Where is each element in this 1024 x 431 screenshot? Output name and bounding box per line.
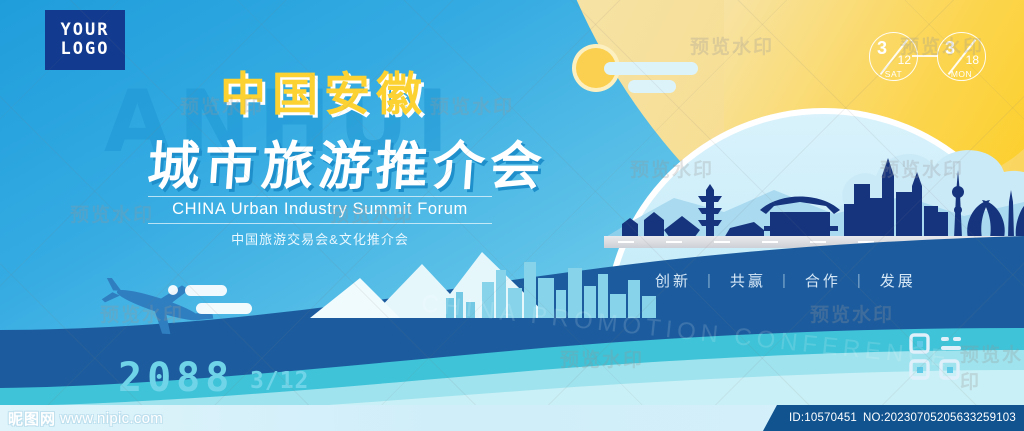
subtitle-cn: 中国旅游交易会&文化推介会	[148, 229, 492, 248]
poster-canvas: YOUR LOGO ANHUI 中国安徽 城市旅游推介会 CHINA Urban…	[0, 0, 1024, 431]
title-cn-top: 中国安徽	[220, 58, 428, 124]
asset-id-tag: ID:10570451 NO:20230705205633259103	[763, 405, 1024, 431]
date-weekday: SAT	[870, 69, 917, 79]
keyword-separator: |	[782, 272, 789, 289]
date-badge-end: 3 18 MON	[937, 32, 986, 81]
date-weekday: MON	[938, 69, 985, 79]
title-cn-main: 城市旅游推介会	[145, 124, 549, 199]
site-brand-url: www.nipic.com	[60, 410, 163, 427]
subtitle-en-frame: CHINA Urban Industry Summit Forum	[148, 196, 492, 224]
keyword-item: 发展	[880, 270, 916, 291]
keyword-item: 合作	[805, 270, 841, 291]
date-month: 3	[945, 38, 955, 59]
logo-placeholder[interactable]: YOUR LOGO	[45, 10, 125, 70]
date-badge-start: 3 12 SAT	[869, 32, 918, 81]
qr-code-icon[interactable]	[908, 332, 970, 382]
asset-no: NO:20230705205633259103	[863, 412, 1016, 424]
date-month: 3	[877, 38, 887, 59]
asset-id: ID:10570451	[789, 412, 857, 424]
event-year: 2088	[118, 355, 234, 401]
cloud-bar	[628, 80, 676, 93]
date-day: 18	[966, 53, 979, 67]
keyword-item: 共赢	[730, 270, 766, 291]
site-brand-cn: 昵图网	[8, 408, 56, 429]
site-brand: 昵图网 www.nipic.com	[8, 408, 163, 429]
keyword-separator: |	[857, 272, 864, 289]
keyword-item: 创新	[655, 270, 691, 291]
plane-cloud-bar	[185, 285, 227, 296]
plane-cloud-dot	[168, 285, 178, 295]
event-day: 3/12	[250, 368, 309, 394]
logo-line-1: YOUR	[61, 21, 110, 40]
plane-cloud-bar	[196, 303, 252, 314]
cloud-bar	[655, 62, 698, 75]
date-day: 12	[898, 53, 911, 67]
keyword-separator: |	[707, 272, 714, 289]
logo-line-2: LOGO	[61, 40, 110, 59]
subtitle-en: CHINA Urban Industry Summit Forum	[148, 200, 492, 219]
keyword-row: 创新 | 共赢 | 合作 | 发展	[655, 270, 916, 291]
footer-bar: 昵图网 www.nipic.com ID:10570451 NO:2023070…	[0, 405, 1024, 431]
